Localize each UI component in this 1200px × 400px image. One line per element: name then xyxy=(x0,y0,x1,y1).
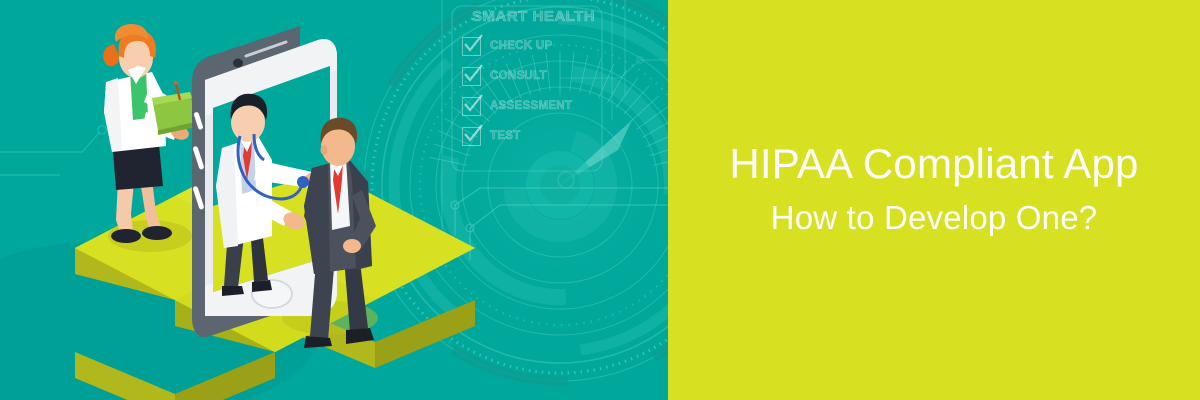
page-title: HIPAA Compliant App xyxy=(668,140,1200,187)
headline-block: HIPAA Compliant App How to Develop One? xyxy=(668,140,1200,237)
telemedicine-illustration xyxy=(0,0,668,400)
hipaa-banner: SMART HEALTH CHECK UP CONSULT ASSESSMENT… xyxy=(0,0,1200,400)
page-subtitle: How to Develop One? xyxy=(668,199,1200,237)
